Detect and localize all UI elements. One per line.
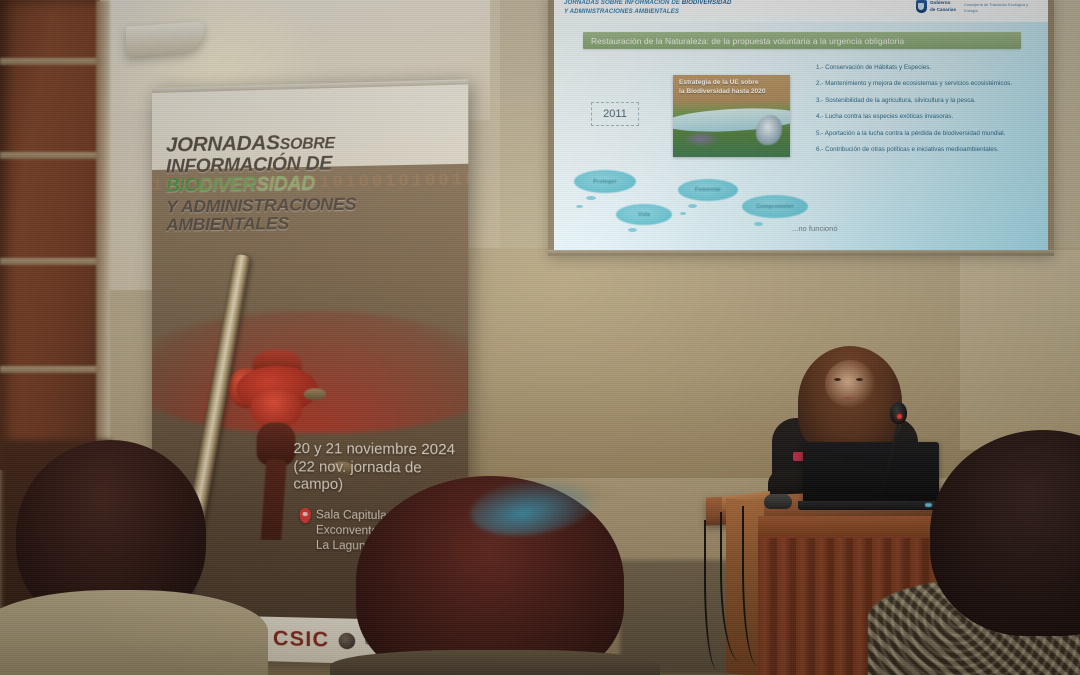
gov-logo-line1: Gobierno [930,0,956,7]
thumbnail-title-line1: Estrategia de la UE sobre [679,79,783,88]
objective-item-1: 1.- Conservación de Hábitats y Especies. [816,64,1024,73]
bubble-vida-dot1 [628,228,637,232]
bubble-vida: Vida [616,204,672,225]
thumbnail-bird [756,115,782,145]
bubble-comprometer-dot1 [754,222,763,226]
objective-item-4: 4.- Lucha contra las especies exóticas i… [816,113,1024,122]
gov-logo-text: Gobierno de Canarias [930,0,956,14]
speaker-eye-right [856,378,863,381]
speaker-face [832,378,866,404]
slide-brand-line2: Y ADMINISTRACIONES AMBIENTALES [564,8,732,17]
speaker-mouth [842,397,856,401]
branch-knot-a [304,388,327,400]
gobierno-canarias-logo: Gobierno de Canarias [916,0,956,14]
computer-mouse[interactable] [764,494,792,509]
laptop-base[interactable] [798,501,944,510]
bubble-proteger-dot2 [576,205,583,208]
microphone-head[interactable] [890,402,907,424]
objective-item-6: 6.- Contribución de otras políticas e in… [816,146,1024,155]
pillar-edge [96,0,110,470]
slide-brand-text: JORNADAS SOBRE INFORMACIÓN DE BIODIVERSI… [564,0,732,17]
bubble-comprometer: Comprometer [742,195,808,218]
banner-date-main: 20 y 21 noviembre 2024 [293,441,468,460]
banner-title-sobre: SOBRE [280,135,335,153]
dragonfly-abdomen [255,458,287,543]
bubble-proteger-dot1 [586,196,596,200]
microphone-led-icon [897,414,902,419]
ull-emblem-icon [339,633,356,650]
thumbnail-title: Estrategia de la UE sobre la Biodiversid… [679,79,783,96]
laptop-led-icon [925,503,932,507]
conference-photo-scene: JORNADASSOBRE INFORMACIÓN DE BIODIVERSID… [0,0,1080,675]
eu-strategy-cover-thumbnail: Estrategia de la UE sobre la Biodiversid… [673,75,790,157]
objective-item-3: 3.- Sostenibilidad de la agricultura, si… [816,97,1024,106]
bubble-proteger: Proteger [574,170,636,193]
gov-department-text: Consejería de Transición Ecológica y Ene… [964,2,1040,14]
slide-brand-line1b: BIODIVERSIDAD [682,0,732,6]
laptop-screen[interactable] [803,442,939,504]
audience-left-torso [0,590,268,675]
projection-screen-bottom-edge [548,250,1054,255]
bubble-fomentar: Fomentar [678,179,738,201]
slide-title-bar: Restauración de la Naturaleza: de la pro… [583,32,1021,49]
thumbnail-title-line2: la Biodiversidad hasta 2020 [679,88,783,97]
projected-slide: JORNADAS SOBRE INFORMACIÓN DE BIODIVERSI… [554,0,1048,250]
objective-item-2: 2.- Mantenimiento y mejora de ecosistema… [816,80,1024,89]
banner-title-jornadas: JORNADAS [166,131,280,157]
bubble-vida-label: Vida [638,212,650,218]
slide-title: Restauración de la Naturaleza: de la pro… [591,36,904,46]
brick-pillar [0,0,100,470]
speaker-eye-left [834,378,841,381]
bubble-comprometer-label: Comprometer [756,204,794,210]
objective-item-5: 5.- Aportación a la lucha contra la pérd… [816,130,1024,139]
dragonfly-wings [152,310,468,434]
slide-brand-line1a: JORNADAS SOBRE INFORMACIÓN DE [564,0,682,6]
gov-logo-line2: de Canarias [930,7,956,14]
thumbnail-flowers [683,131,719,147]
bubble-proteger-label: Proteger [593,179,617,185]
csic-logo-text: CSIC [273,627,329,653]
slide-objectives-list: 1.- Conservación de Hábitats y Especies.… [816,64,1024,163]
canarias-shield-icon [916,0,927,13]
slide-footer-note: ...no funcionó [792,224,838,233]
audience-center-torso [330,650,660,675]
bubble-fomentar-dot1 [688,204,697,208]
year-callout-box: 2011 [591,102,639,126]
bubble-fomentar-label: Fomentar [695,187,721,193]
bubble-fomentar-dot2 [680,212,686,215]
year-value: 2011 [603,108,627,120]
wall-far-right [960,250,1080,450]
